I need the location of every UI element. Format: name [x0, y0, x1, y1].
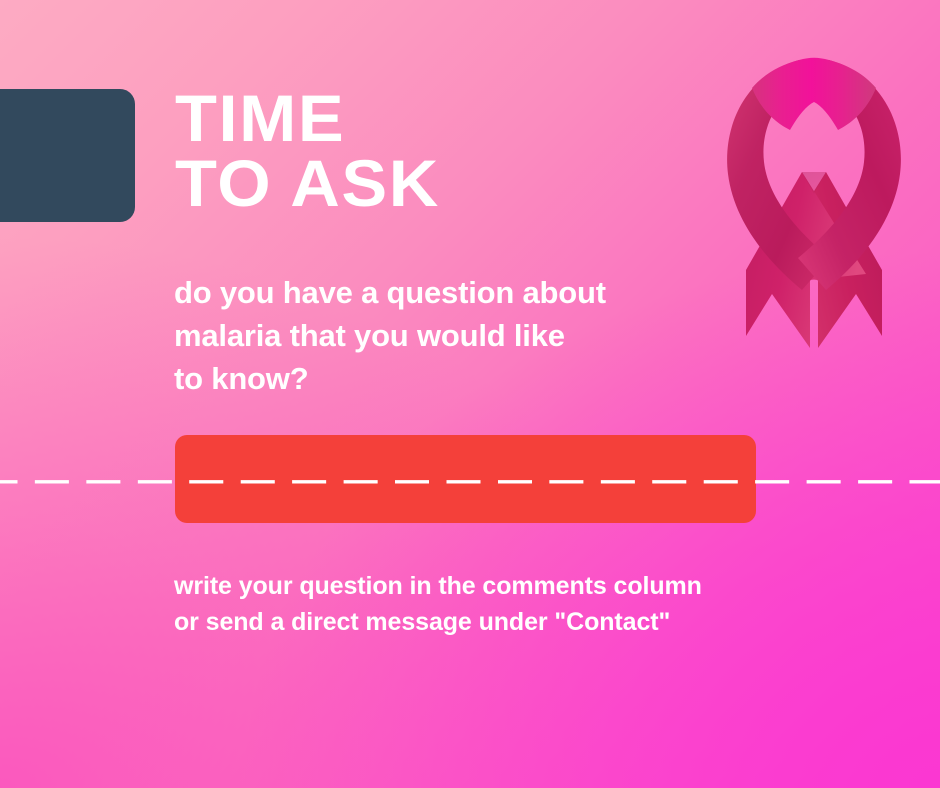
question-line-2: malaria that you would like — [174, 315, 714, 358]
poster-canvas: TIME TO ASK do you have a question about… — [0, 0, 940, 788]
instructions-line-1: write your question in the comments colu… — [174, 568, 702, 604]
decorative-slate-tab — [0, 89, 135, 222]
answer-blank-dashes: — — — — — — — — — — — — — — — — — — — — … — [0, 463, 940, 497]
question-line-3: to know? — [174, 358, 714, 401]
ribbon-top-band — [752, 58, 876, 130]
headline-line-2: TO ASK — [175, 151, 440, 216]
awareness-ribbon-icon — [698, 22, 930, 362]
headline-line-1: TIME — [175, 86, 440, 151]
page-title: TIME TO ASK — [175, 86, 440, 215]
instructions-line-2: or send a direct message under "Contact" — [174, 604, 702, 640]
answer-input-field[interactable]: — — — — — — — — — — — — — — — — — — — — … — [175, 435, 756, 523]
question-line-1: do you have a question about — [174, 272, 714, 315]
question-prompt: do you have a question about malaria tha… — [174, 272, 714, 400]
instructions-text: write your question in the comments colu… — [174, 568, 702, 641]
